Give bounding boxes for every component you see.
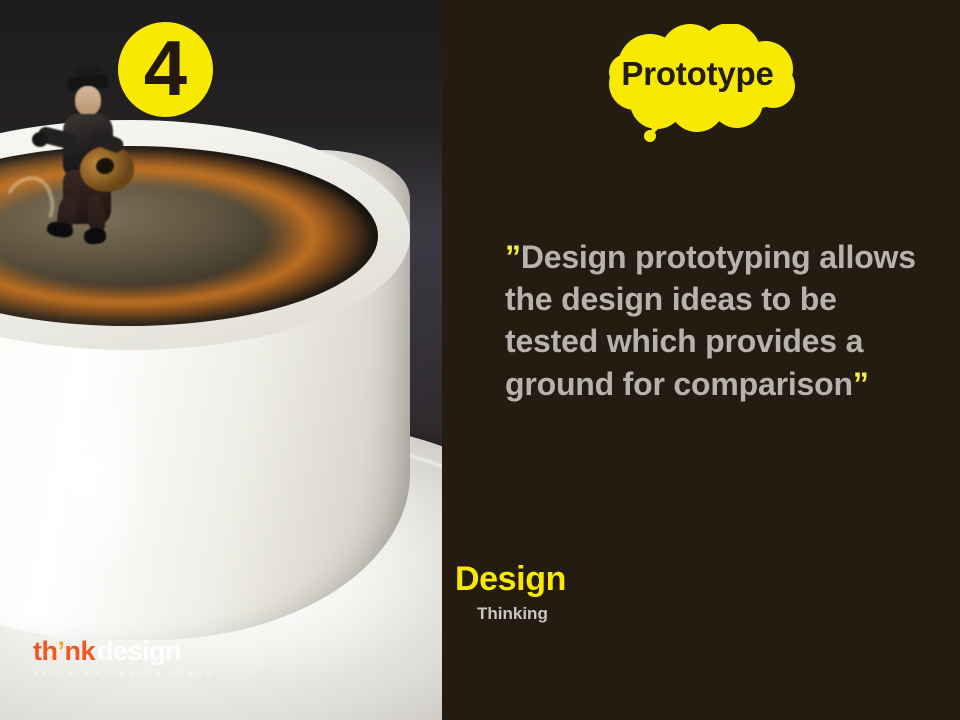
logo-design-text: design bbox=[97, 636, 181, 666]
figurine-head bbox=[75, 86, 101, 116]
step-number-badge: 4 bbox=[118, 22, 213, 117]
slide: 4 th’nkdesign SPINNING DESIGN IDEAS bbox=[0, 0, 960, 720]
figurine-guitarist bbox=[18, 72, 138, 242]
logo-wordmark: th’nkdesign bbox=[33, 638, 216, 665]
brand-thinking-label: Thinking bbox=[477, 605, 566, 622]
brand-footer: Design Thinking bbox=[455, 562, 566, 622]
thought-bubble: Prototype bbox=[595, 24, 800, 146]
logo-apostrophe-icon: ’ bbox=[57, 636, 64, 666]
quote-close-mark: ” bbox=[853, 366, 869, 402]
photo-panel bbox=[0, 0, 442, 720]
quote-block: ”Design prototyping allows the design id… bbox=[505, 236, 925, 405]
brand-design-label: Design bbox=[455, 562, 566, 596]
logo-tagline: SPINNING DESIGN IDEAS bbox=[33, 670, 216, 677]
quote-open-mark: ” bbox=[505, 239, 521, 275]
think-design-logo: th’nkdesign SPINNING DESIGN IDEAS bbox=[33, 638, 216, 677]
thought-bubble-label: Prototype bbox=[595, 24, 800, 124]
cup-highlight bbox=[20, 330, 170, 630]
logo-th-text: th bbox=[33, 636, 57, 666]
step-number-label: 4 bbox=[144, 29, 187, 107]
figurine-hand-left bbox=[32, 132, 48, 147]
logo-nk-text: nk bbox=[65, 636, 96, 666]
